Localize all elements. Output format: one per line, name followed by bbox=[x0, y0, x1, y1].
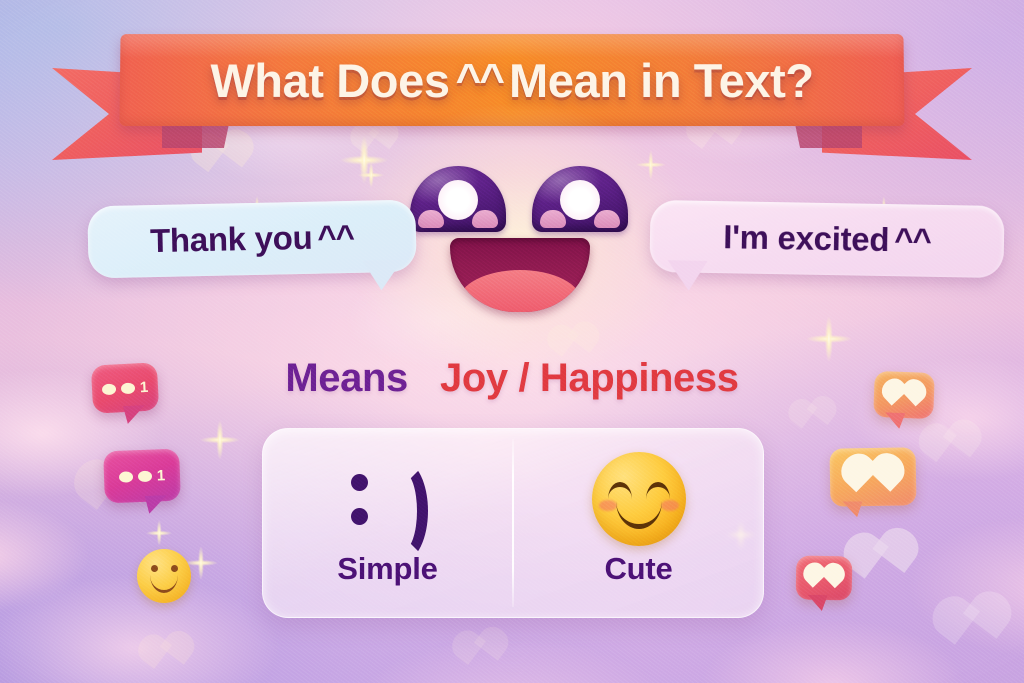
card-panel-cute: Cute bbox=[514, 429, 763, 617]
sparkle-icon bbox=[200, 420, 240, 460]
heart-chat-bubble-icon bbox=[830, 447, 917, 506]
emoji-eye-left bbox=[608, 482, 632, 499]
speech-bubble-im-excited: I'm excited^^ bbox=[649, 200, 1004, 278]
speech-bubble-right-text: I'm excited^^ bbox=[723, 218, 931, 260]
card-panel-simple: Simple bbox=[263, 429, 512, 617]
title-text-before: What Does bbox=[210, 53, 450, 108]
face-mouth-icon bbox=[450, 238, 590, 312]
smiley-face-icon bbox=[137, 549, 191, 603]
caret-caret-glyph: ^^ bbox=[312, 218, 354, 256]
eye-pupil bbox=[438, 180, 478, 220]
chat-dot bbox=[138, 470, 152, 481]
sparkle-icon bbox=[358, 162, 384, 188]
chat-dot bbox=[119, 471, 133, 482]
background-heart-icon bbox=[464, 634, 497, 665]
speech-bubble-left-text: Thank you^^ bbox=[150, 218, 355, 260]
chat-bubble-icon: 1 bbox=[103, 449, 181, 504]
infographic-canvas: What Does ^^ Mean in Text? Thank you^^ bbox=[0, 0, 1024, 683]
ascii-eye-top bbox=[351, 474, 368, 491]
chat-bubble-icon: 1 bbox=[91, 362, 159, 413]
eye-blush bbox=[540, 210, 566, 228]
sparkle-icon bbox=[636, 150, 666, 180]
smiley-mouth bbox=[150, 575, 178, 593]
eye-blush bbox=[472, 210, 498, 228]
background-heart-icon bbox=[150, 638, 183, 669]
heart-icon bbox=[813, 568, 835, 588]
emoji-blush-right bbox=[661, 500, 679, 511]
background-heart-icon bbox=[860, 537, 905, 578]
chat-badge-count: 1 bbox=[157, 468, 166, 483]
eye-blush bbox=[418, 210, 444, 228]
speech-bubble-thank-you: Thank you^^ bbox=[87, 200, 416, 279]
heart-chat-bubble-icon bbox=[796, 556, 853, 601]
face-eye-left-icon bbox=[410, 166, 506, 232]
bubble-right-message: I'm excited bbox=[723, 218, 890, 258]
ascii-mouth bbox=[379, 461, 428, 561]
emoji-eye-right bbox=[646, 482, 670, 499]
eye-blush bbox=[594, 210, 620, 228]
face-eye-right-icon bbox=[532, 166, 628, 232]
chat-dot bbox=[121, 382, 136, 394]
sparkle-icon bbox=[146, 520, 172, 546]
page-title: What Does ^^ Mean in Text? bbox=[210, 53, 814, 108]
eye-pupil bbox=[560, 180, 600, 220]
happy-face-illustration bbox=[404, 152, 636, 312]
emoji-mouth bbox=[616, 501, 662, 529]
background-heart-icon bbox=[558, 328, 589, 357]
headline-prefix: Means bbox=[285, 356, 408, 400]
title-text-after: Mean in Text? bbox=[509, 53, 814, 108]
headline-highlight: Joy / Happiness bbox=[440, 356, 739, 400]
title-ribbon: What Does ^^ Mean in Text? bbox=[52, 28, 972, 150]
smiling-face-emoji-icon bbox=[592, 447, 686, 551]
background-heart-icon bbox=[950, 601, 997, 644]
heart-icon bbox=[892, 384, 917, 406]
comparison-card: Simple Cute bbox=[262, 428, 764, 618]
caret-caret-glyph: ^^ bbox=[889, 221, 931, 259]
face-tongue bbox=[459, 270, 581, 312]
ribbon-body: What Does ^^ Mean in Text? bbox=[119, 34, 904, 126]
chat-badge-count: 1 bbox=[139, 379, 148, 394]
emoji-blush-left bbox=[599, 500, 617, 511]
smiley-eye-left bbox=[151, 565, 158, 572]
card-label-cute: Cute bbox=[604, 551, 672, 587]
background-heart-icon bbox=[932, 428, 970, 462]
ascii-eye-bottom bbox=[351, 508, 368, 525]
heart-chat-bubble-icon bbox=[873, 371, 935, 419]
chat-dot bbox=[102, 383, 117, 395]
caret-caret-glyph: ^^ bbox=[450, 55, 509, 105]
background-heart-icon bbox=[799, 402, 828, 428]
smiley-eye-right bbox=[171, 565, 178, 572]
heart-icon bbox=[856, 462, 891, 493]
ascii-smiley-icon bbox=[345, 447, 431, 551]
bubble-left-message: Thank you bbox=[150, 219, 313, 259]
